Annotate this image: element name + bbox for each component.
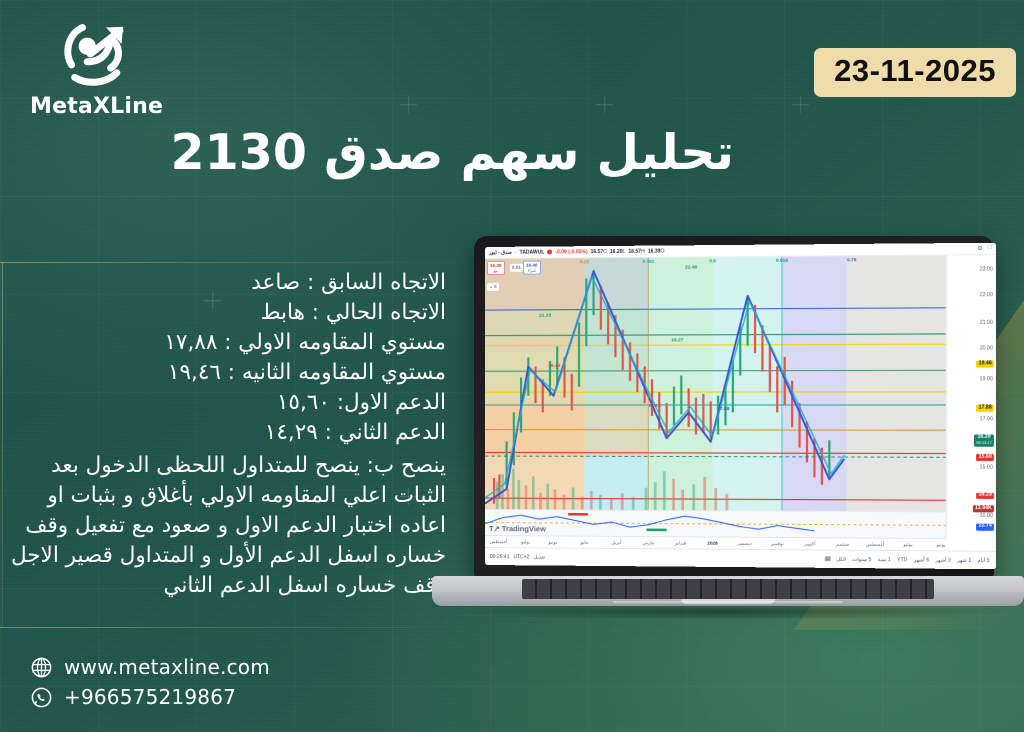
divider-bottom (0, 627, 452, 628)
inline-price-19-46: 19.46 (548, 364, 560, 369)
gear-icon[interactable]: ⚙ (977, 245, 982, 251)
alert-dot-icon[interactable] (547, 249, 552, 254)
fib-zone-5 (847, 255, 946, 511)
crosshair-marker-icon (596, 96, 613, 113)
price-plot-area[interactable]: 0.23 0.382 0.5 0.618 0.75 21.33 19.46 19… (485, 255, 946, 511)
time-label-9: مارس (642, 540, 654, 546)
price-chart-svg (485, 255, 946, 511)
clock-group: تعديل UTC+2 09:26:41 (490, 554, 545, 560)
level-badge-support-1[interactable]: 15.60 (977, 454, 994, 461)
fib-label-2: 0.5 (709, 258, 716, 263)
analysis-line-prev-trend: الاتجاه السابق : صاعد (6, 268, 446, 298)
analysis-block: الاتجاه السابق : صاعد الاتجاه الحالي : ه… (6, 268, 446, 601)
timezone-label[interactable]: UTC+2 (513, 554, 529, 560)
time-label-2: أغسطس (866, 542, 884, 548)
laptop-mockup: صدق - ايور · TADAWUL -0.09 (-0.55%) 16.5… (432, 236, 1024, 656)
fib-label-4: 0.75 (847, 257, 856, 262)
timeframe-5y[interactable]: 5 سنوات (851, 556, 872, 562)
scale-tag[interactable]: ⌄ 2 (487, 283, 499, 291)
clock-time: 09:26:41 (490, 554, 509, 560)
header-controls: ⚙ ⛶ (977, 245, 991, 252)
laptop-lid: صدق - ايور · TADAWUL -0.09 (-0.55%) 16.5… (474, 236, 994, 578)
website-text: www.metaxline.com (64, 655, 270, 679)
infographic-poster: MetaXLine 23-11-2025 تحليل سهم صدق 2130 … (0, 0, 1024, 732)
contact-footer: www.metaxline.com +966575219867 (30, 652, 270, 712)
divider-vertical (2, 262, 3, 628)
fib-zone-3 (713, 257, 782, 511)
analysis-line-support-2: الدعم الثاني : ١٤,٢٩ (6, 418, 446, 448)
time-label-year: 2026 (707, 541, 717, 546)
rsi-indicator-pane[interactable]: T↗ TradingView (485, 509, 946, 538)
rsi-chart-svg (485, 510, 946, 538)
analysis-recommendation: ينصح ب: ينصح للمتداول اللحظى الدخول بعد … (6, 451, 446, 601)
time-label-0: يونيو (936, 542, 945, 548)
price-change: -0.09 (-0.55%) (555, 249, 587, 255)
rsi-marker-buy (646, 529, 666, 532)
analysis-line-curr-trend: الاتجاه الحالي : هابط (6, 298, 446, 328)
price-axis[interactable]: 23.00 22.00 21.00 20.00 19.00 17.00 15.0… (946, 255, 996, 538)
analysis-line-support-1: الدعم الاول: ١٥,٦٠ (6, 388, 446, 418)
price-tick-10: 10.00 (980, 513, 993, 519)
analysis-line-resistance-1: مستوي المقاومه الاولي : ١٧,٨٨ (6, 328, 446, 358)
timeframe-5d[interactable]: 5 أيام (976, 557, 990, 563)
timeframe-ytd[interactable]: YTD (896, 557, 908, 563)
tradingview-chart: صدق - ايور · TADAWUL -0.09 (-0.55%) 16.5… (485, 243, 996, 570)
page-title: تحليل سهم صدق 2130 (171, 124, 734, 181)
price-tick-20: 20.00 (980, 346, 993, 352)
level-badge-rsi[interactable]: 22.74 (977, 524, 994, 531)
level-badge-support-2[interactable]: 14.29 (977, 492, 994, 499)
inline-price-21-33: 21.33 (539, 314, 551, 319)
brand-name: MetaXLine (30, 94, 160, 119)
inline-price-19-27: 19.27 (671, 338, 683, 343)
price-tick-21: 21.00 (980, 320, 993, 326)
timeframe-6m[interactable]: 6 أشهر (913, 557, 931, 563)
time-label-14: أغسطس (490, 539, 507, 545)
brand-logo: MetaXLine (30, 18, 160, 119)
ohlc-open: 16.39O (648, 248, 665, 254)
symbol-arabic[interactable]: صدق - ايور (489, 249, 512, 255)
inline-price-22-46: 22.46 (685, 265, 697, 270)
ohlc-high: 16.57H (628, 248, 644, 254)
bid-tag[interactable]: 16.39بيع (487, 261, 504, 275)
time-label-3: سبتمبر (836, 541, 850, 547)
exchange-label[interactable]: TADAWUL (520, 249, 545, 255)
fullscreen-icon[interactable]: ⛶ (988, 245, 992, 252)
chart-bottom-toolbar: 5 أيام 1 شهر 3 أشهر 6 أشهر YTD 1 سنة 5 س… (485, 547, 996, 569)
edit-label[interactable]: تعديل (533, 554, 545, 560)
time-label-12: يونيو (548, 539, 557, 545)
level-badge-volume[interactable]: 13.94K (973, 505, 994, 512)
level-line-0.23 (485, 430, 946, 431)
inline-price-17-88: 17.88 (717, 407, 729, 412)
price-tick-22: 22.00 (980, 292, 993, 298)
analysis-line-resistance-2: مستوي المقاومه الثانيه : ١٩,٤٦ (6, 358, 446, 388)
ask-tag[interactable]: 16.40شراء (523, 261, 541, 275)
divider-top (0, 262, 470, 263)
laptop-screen: صدق - ايور · TADAWUL -0.09 (-0.55%) 16.5… (485, 243, 996, 570)
time-label-8: فبراير (675, 540, 686, 546)
price-tick-19: 19.00 (980, 377, 993, 383)
phone-row[interactable]: +966575219867 (30, 682, 270, 712)
rsi-marker-sell (568, 513, 588, 516)
rsi-midline (485, 523, 946, 526)
level-badge-last-price[interactable]: 16.3909:13:17 (974, 434, 994, 447)
timeframe-1m[interactable]: 1 شهر (956, 557, 972, 563)
time-label-1: يوليو (903, 542, 912, 548)
level-badge-resistance-1[interactable]: 17.88 (977, 405, 994, 412)
phone-text: +966575219867 (64, 685, 236, 709)
price-tick-23: 23.00 (980, 266, 993, 272)
tradingview-watermark: T↗ TradingView (489, 524, 546, 533)
price-tick-17: 17.00 (980, 416, 993, 422)
time-label-4: أكتوبر (804, 541, 815, 547)
tv-logo-icon: T↗ (489, 524, 500, 533)
time-label-6: ديسمبر (738, 541, 752, 547)
ohlc-low: 16.20L (610, 248, 625, 254)
spread-tag: 0.01 (510, 264, 523, 272)
separator-dot: · (515, 249, 517, 255)
calendar-icon[interactable]: 🗓 (824, 556, 831, 562)
laptop-shadow (450, 604, 1006, 620)
price-tick-15: 15.00 (980, 464, 993, 470)
whatsapp-icon (30, 686, 53, 709)
website-row[interactable]: www.metaxline.com (30, 652, 270, 682)
time-label-10: أبريل (611, 540, 621, 546)
chart-arrow-circle-logo-icon (56, 18, 134, 90)
fib-label-0: 0.23 (580, 259, 589, 264)
fib-label-1: 0.382 (642, 259, 654, 264)
time-label-11: مايو (581, 540, 589, 546)
laptop-keyboard (522, 579, 934, 599)
timeframe-3m[interactable]: 3 أشهر (934, 557, 952, 563)
timeframe-1y[interactable]: 1 سنة (877, 557, 892, 563)
ohlc-close: 16.57C (591, 248, 607, 254)
date-badge: 23-11-2025 (814, 48, 1016, 97)
crosshair-marker-icon (792, 96, 809, 113)
timeframe-group: 5 أيام 1 شهر 3 أشهر 6 أشهر YTD 1 سنة 5 س… (824, 556, 990, 563)
time-label-13: يوليو (521, 539, 530, 545)
crosshair-marker-icon (400, 96, 417, 113)
inline-price-18-02: 18.02 (648, 404, 660, 409)
timeframe-all[interactable]: الكل (835, 556, 847, 562)
level-badge-resistance-2[interactable]: 19.46 (977, 361, 994, 368)
fib-label-3: 0.618 (776, 258, 788, 263)
time-label-5: نوفمبر (771, 541, 784, 547)
globe-icon (30, 656, 53, 679)
